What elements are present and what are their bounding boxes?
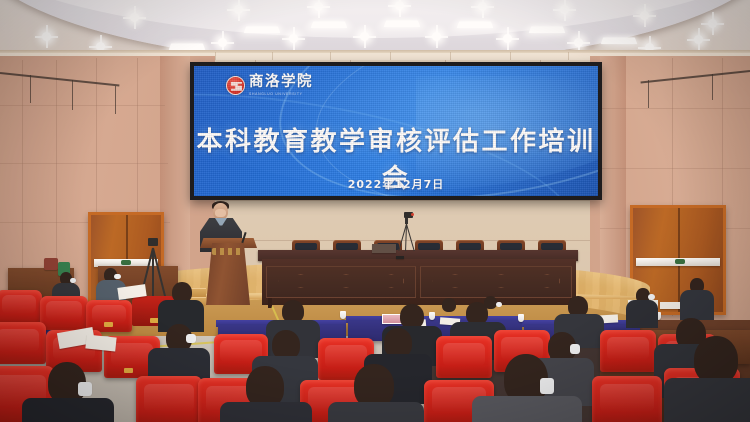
wall-rail-drop (648, 80, 649, 108)
ceiling-downlight (503, 34, 512, 43)
wall-seam (0, 105, 165, 106)
ceiling-downlight (360, 32, 369, 41)
ceiling-panel-light (384, 20, 421, 27)
audience-seat (0, 290, 42, 324)
audience-seat (600, 330, 656, 372)
university-logo: 商洛学院 SHANGLUO UNIVERSITY (226, 75, 313, 96)
ceiling-downlight (130, 13, 139, 22)
soffit-edge (0, 50, 750, 53)
audience-body (472, 396, 582, 422)
audience-camera-icon (148, 238, 158, 246)
water-cup (429, 312, 435, 320)
head-table-chair-seat (500, 243, 522, 250)
head-table-diamond-inlay (278, 274, 404, 288)
handbag (44, 258, 58, 270)
ceiling-downlight (708, 19, 717, 28)
presentation-date: 2022年12月7日 (194, 176, 598, 192)
ceiling-panel-light (311, 21, 348, 28)
handout-document (85, 334, 116, 351)
wall-rail-drop (30, 75, 31, 103)
audience-seat (86, 300, 132, 332)
seat-number-plate (104, 322, 113, 327)
ceiling-downlight (432, 32, 441, 41)
ceiling-panel-light (601, 37, 638, 44)
face-mask (70, 278, 76, 283)
audience-seat (40, 296, 88, 330)
head-table-chair-seat (336, 243, 358, 250)
audience-seat (592, 376, 662, 422)
face-mask (540, 378, 554, 394)
podium-emblem (212, 248, 244, 255)
audience-seat (436, 336, 492, 378)
led-display-screen: 商洛学院 SHANGLUO UNIVERSITY 本科教育教学审核评估工作培训会… (194, 66, 598, 196)
table-device (372, 244, 396, 253)
university-name-pinyin: SHANGLUO UNIVERSITY (249, 92, 313, 96)
face-mask (648, 294, 655, 300)
head-table-chair-seat (295, 243, 317, 250)
audience-body (664, 378, 750, 422)
face-mask (114, 274, 121, 279)
ceiling-panel-light (244, 26, 281, 33)
wall-seam (0, 163, 168, 164)
ceiling-downlight (314, 2, 323, 11)
ceiling-downlight (395, 1, 404, 10)
ceiling-downlight (694, 35, 703, 44)
wall-seam (600, 168, 750, 169)
wall-rail-drop (712, 74, 713, 100)
university-name-cn: 商洛学院 (249, 75, 313, 90)
table-remote (396, 256, 404, 259)
head-table-chair-seat (418, 243, 440, 250)
head-table-chair-seat (459, 243, 481, 250)
audience-body (626, 300, 658, 328)
audience-head (694, 336, 738, 384)
led-display-frame: 商洛学院 SHANGLUO UNIVERSITY 本科教育教学审核评估工作培训会… (190, 62, 602, 200)
ceiling-downlight (640, 11, 649, 20)
audience-body (220, 402, 312, 422)
water-cup (518, 314, 524, 322)
university-seal-icon (226, 76, 245, 95)
seat-number-plate (124, 368, 133, 373)
ceiling-downlight (560, 5, 569, 14)
audience-body (328, 402, 424, 422)
ceiling-panel-light (457, 21, 494, 28)
face-mask (496, 302, 502, 307)
face-mask (186, 334, 196, 343)
audience-body (22, 398, 114, 422)
audience-head (442, 298, 456, 312)
ceiling-downlight (42, 32, 51, 41)
auditorium-scene: 商洛学院 SHANGLUO UNIVERSITY 本科教育教学审核评估工作培训会… (0, 0, 750, 422)
ceiling-downlight (289, 34, 298, 43)
wall-seam (180, 200, 610, 201)
ceiling-downlight (218, 38, 227, 47)
head-table-diamond-inlay (432, 274, 560, 288)
water-cup (340, 311, 346, 319)
speaker-face (215, 209, 226, 217)
ceiling-downlight (234, 5, 243, 14)
ceiling-downlight (478, 2, 487, 11)
wall-rail-drop (115, 86, 116, 114)
wall-rail-drop (72, 80, 73, 110)
wall-seam (600, 108, 750, 109)
audience-seat (136, 376, 202, 422)
face-mask (570, 344, 580, 354)
head-table-chair-seat (541, 243, 563, 250)
door-handle-icon[interactable] (121, 260, 131, 265)
camera-lens-icon (411, 213, 414, 216)
ceiling-panel-light (529, 26, 566, 33)
door-handle-icon[interactable] (675, 259, 685, 264)
audience-seat (0, 322, 46, 364)
university-logo-text: 商洛学院 SHANGLUO UNIVERSITY (249, 75, 313, 96)
ceiling-downlight (574, 38, 583, 47)
face-mask (78, 382, 92, 396)
audience-body (680, 290, 714, 320)
